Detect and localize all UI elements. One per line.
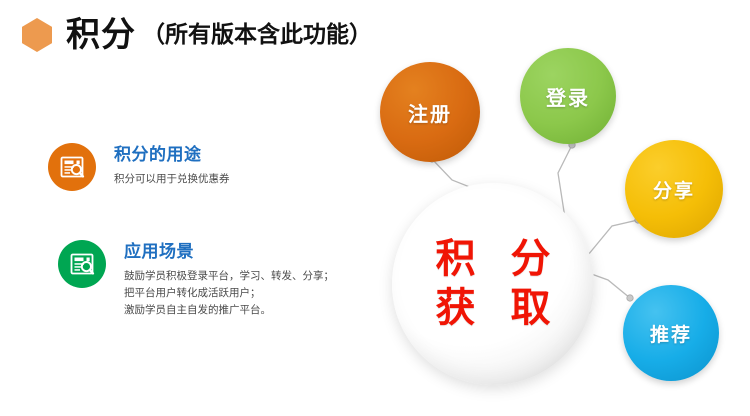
- feature-body: 积分可以用于兑换优惠券: [114, 171, 230, 188]
- node-share-label: 分享: [653, 176, 695, 203]
- document-search-icon: [58, 240, 106, 288]
- center-node: 积 分 获 取: [392, 183, 594, 385]
- node-recommend[interactable]: 推荐: [623, 285, 719, 381]
- document-search-icon: [48, 143, 96, 191]
- feature-block-usage: 积分的用途 积分可以用于兑换优惠券: [48, 143, 230, 191]
- feature-body-line: 激励学员自主自发的推广平台。: [124, 302, 334, 319]
- feature-body: 鼓励学员积极登录平台，学习、转发、分享； 把平台用户转化成活跃用户； 激励学员自…: [124, 268, 334, 320]
- feature-body-line: 鼓励学员积极登录平台，学习、转发、分享；: [124, 268, 334, 285]
- node-recommend-label: 推荐: [650, 320, 692, 347]
- node-login-label: 登录: [546, 82, 590, 111]
- title-subtitle: （所有版本含此功能）: [142, 23, 372, 48]
- node-login[interactable]: 登录: [520, 48, 616, 144]
- feature-block-scenario: 应用场景 鼓励学员积极登录平台，学习、转发、分享； 把平台用户转化成活跃用户； …: [58, 240, 334, 319]
- page-title: 积分 （所有版本含此功能）: [22, 12, 372, 58]
- title-main: 积分: [66, 18, 136, 52]
- feature-body-line: 把平台用户转化成活跃用户；: [124, 285, 334, 302]
- center-label-line1: 积 分: [423, 235, 562, 284]
- feature-heading: 应用场景: [124, 242, 334, 262]
- node-register-label: 注册: [408, 98, 452, 127]
- node-register[interactable]: 注册: [380, 62, 480, 162]
- hexagon-icon: [22, 18, 52, 52]
- center-label-line2: 获 取: [423, 284, 562, 333]
- feature-body-line: 积分可以用于兑换优惠券: [114, 171, 230, 188]
- node-share[interactable]: 分享: [625, 140, 723, 238]
- feature-heading: 积分的用途: [114, 145, 230, 165]
- points-diagram: 注册 登录 分享 推荐 积 分 获 取: [360, 40, 750, 416]
